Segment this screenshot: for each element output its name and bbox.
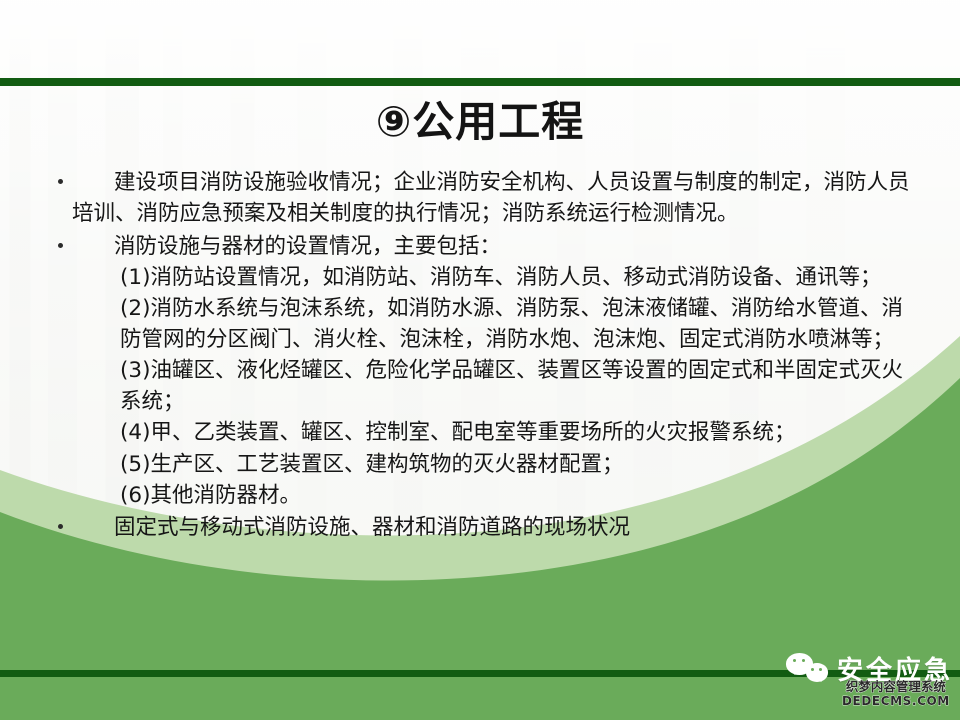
list-item: (2)消防水系统与泡沫系统，如消防水源、消防泵、泡沫液储罐、消防给水管道、消防管… bbox=[44, 294, 920, 355]
list-item: (3)油罐区、液化烃罐区、危险化学品罐区、装置区等设置的固定式和半固定式灭火系统… bbox=[44, 356, 920, 417]
list-item: (1)消防站设置情况，如消防站、消防车、消防人员、移动式消防设备、通讯等； bbox=[44, 263, 920, 294]
list-item: (4)甲、乙类装置、罐区、控制室、配电室等重要场所的火灾报警系统； bbox=[44, 418, 920, 449]
list-item-text: 固定式与移动式消防设施、器材和消防道路的现场状况 bbox=[114, 515, 630, 540]
watermark-cn: 织梦内容管理系统 bbox=[842, 681, 950, 694]
bullet-icon bbox=[58, 179, 63, 184]
site-watermark: 织梦内容管理系统 DEDECMS.COM bbox=[842, 681, 950, 707]
list-item: (6)其他消防器材。 bbox=[44, 481, 920, 512]
bullet-icon bbox=[58, 243, 63, 248]
list-item: 建设项目消防设施验收情况；企业消防安全机构、人员设置与制度的制定，消防人员培训、… bbox=[44, 168, 920, 229]
top-accent-rule bbox=[0, 78, 960, 86]
slide-body: 建设项目消防设施验收情况；企业消防安全机构、人员设置与制度的制定，消防人员培训、… bbox=[44, 168, 920, 546]
bullet-icon bbox=[58, 524, 63, 529]
list-item-text: 消防设施与器材的设置情况，主要包括： bbox=[114, 234, 501, 259]
list-item-text: 建设项目消防设施验收情况；企业消防安全机构、人员设置与制度的制定，消防人员培训、… bbox=[72, 170, 910, 226]
list-item: (5)生产区、工艺装置区、建构筑物的灭火器材配置； bbox=[44, 450, 920, 481]
slide: ⑨公用工程 建设项目消防设施验收情况；企业消防安全机构、人员设置与制度的制定，消… bbox=[0, 0, 960, 720]
list-item: 消防设施与器材的设置情况，主要包括： bbox=[44, 232, 920, 263]
page-title: ⑨公用工程 bbox=[0, 98, 960, 146]
wechat-icon bbox=[786, 652, 828, 686]
watermark-en: DEDECMS.COM bbox=[842, 695, 950, 707]
list-item: 固定式与移动式消防设施、器材和消防道路的现场状况 bbox=[44, 513, 920, 544]
